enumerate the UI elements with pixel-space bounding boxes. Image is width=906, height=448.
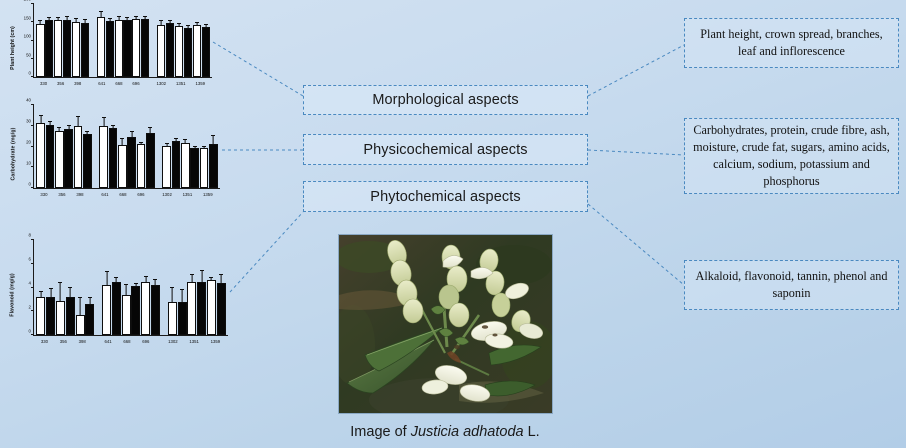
chart1-x-tick-label: 1351 <box>171 79 190 92</box>
chart1-x-group-gap <box>145 79 152 92</box>
chart3-error-bar <box>211 278 212 280</box>
chart1-bar-black <box>63 20 71 77</box>
chart3-bar-black <box>178 302 187 335</box>
chart1-error-cap <box>99 11 103 12</box>
chart2-bar <box>172 105 181 188</box>
chart2-bar <box>74 105 83 188</box>
chart3-bar <box>85 240 94 335</box>
chart3-y-tick-label: 0 <box>29 329 31 334</box>
chart1-error-bar <box>118 17 119 20</box>
chart1-plot-area <box>33 4 212 78</box>
chart2-x-tick-label: 1351 <box>177 190 197 203</box>
chart2-error-cap <box>193 146 197 147</box>
chart2-bar <box>127 105 136 188</box>
chart2-error-bar <box>87 131 88 134</box>
chart3-plot-area <box>33 240 228 336</box>
chart1-x-tick-label: 641 <box>93 79 110 92</box>
chart3-error-cap <box>124 284 128 285</box>
chart1-bar <box>166 4 174 77</box>
chart2-y-tick-mark <box>31 146 34 147</box>
chart1-y-ticks: 050100150200 <box>20 4 33 78</box>
chart2-error-cap <box>130 131 134 132</box>
chart1-bar <box>202 4 210 77</box>
chart1-error-bar <box>127 18 128 21</box>
chart2-y-tick-mark <box>31 187 34 188</box>
chart3-x-group: 130213511359 <box>162 337 226 350</box>
chart3-bar-black <box>112 282 121 335</box>
chart3-bar-black <box>151 285 160 335</box>
chart3-x-tick-label: 641 <box>99 337 118 350</box>
chart2-x-tick-label: 641 <box>96 190 114 203</box>
chart1-bar-white <box>115 20 123 77</box>
chart1-error-bar <box>76 19 77 22</box>
chart3-bar <box>141 240 150 335</box>
chart1-bar <box>45 4 53 77</box>
chart3-bar-white <box>76 315 85 335</box>
chart1-error-cap <box>159 20 163 21</box>
chart3-x-tick-label: 696 <box>136 337 155 350</box>
chart2-error-cap <box>165 143 169 144</box>
chart2-bar <box>200 105 209 188</box>
chart3-error-bar <box>70 288 71 298</box>
chart3-error-bar <box>50 289 51 297</box>
chart2-x-tick-label: 1359 <box>198 190 218 203</box>
chart3-x-tick-label: 398 <box>73 337 92 350</box>
chart1-y-tick-label: 0 <box>29 71 31 76</box>
right-box-physicochemical-details[interactable]: Carbohydrates, protein, crude fibre, ash… <box>684 118 899 194</box>
chart2-y-ticks: 010203040 <box>20 105 33 189</box>
connector-morphological-to-box1 <box>588 45 684 96</box>
chart2-x-group: 641668696 <box>96 190 150 203</box>
connector-physicochemical-to-box2 <box>588 150 684 155</box>
chart2-error-bar <box>141 143 142 145</box>
chart3-x-group: 330356398 <box>35 337 92 350</box>
chart2-bar-white <box>99 126 108 188</box>
chart3-bar <box>168 240 177 335</box>
chart3-bar <box>178 240 187 335</box>
chart2-error-cap <box>120 138 124 139</box>
chart3-error-cap <box>200 270 204 271</box>
chart2-bar-black <box>109 128 118 188</box>
chart2-bar-black <box>46 125 55 188</box>
chart3-error-bar <box>80 298 81 315</box>
chart3-bar <box>131 240 140 335</box>
chart3-error-cap <box>105 271 109 272</box>
chart1-error-cap <box>108 18 112 19</box>
chart1-error-bar <box>40 21 41 24</box>
chart3-error-bar <box>60 283 61 301</box>
chart1-y-tick-label: 50 <box>26 52 31 57</box>
photo-caption-species: Justicia adhatoda <box>411 424 524 440</box>
chart2-bar <box>209 105 218 188</box>
chart1-error-cap <box>143 16 147 17</box>
chart1-x-group-gap <box>86 79 93 92</box>
chart1-bar-black <box>123 20 131 77</box>
chart2-error-cap <box>57 127 61 128</box>
chart1-y-tick-mark <box>31 40 34 41</box>
chart3-bar-group <box>36 240 95 335</box>
chart3-y-tick-mark <box>31 334 34 335</box>
chart1-bar-black <box>141 19 149 77</box>
chart3-bar-white <box>56 301 65 335</box>
chart2-bar <box>46 105 55 188</box>
chart1-x-labels: 330356398641668696130213511359 <box>33 79 212 92</box>
chart1-error-bar <box>205 24 206 27</box>
chart2-error-cap <box>202 146 206 147</box>
chart2-bar-black <box>209 144 218 188</box>
chart1-y-tick-label: 200 <box>24 0 31 2</box>
chart1-bar <box>54 4 62 77</box>
chart2-error-bar <box>59 128 60 132</box>
chart3-y-ticks: 02468 <box>20 240 33 336</box>
chart1-bar-black <box>45 20 53 77</box>
chart3-x-tick-label: 1351 <box>183 337 204 350</box>
chart2-bar-group <box>99 105 155 188</box>
chart1-bar <box>97 4 105 77</box>
chart1-x-group: 641668696 <box>93 79 144 92</box>
chart3-bar <box>217 240 226 335</box>
chart3-error-bar <box>40 292 41 297</box>
chart3-bar-white <box>122 295 131 335</box>
chart2-error-bar <box>185 140 186 143</box>
chart3-error-bar <box>145 277 146 282</box>
chart2-error-bar <box>68 126 69 129</box>
chart2-error-cap <box>111 125 115 126</box>
chart1-bar-black <box>81 23 89 77</box>
chart1-y-tick-mark <box>31 58 34 59</box>
right-box-phytochemical-details[interactable]: Alkaloid, flavonoid, tannin, phenol and … <box>684 260 899 310</box>
chart3-bar-white <box>168 302 177 335</box>
chart2-error-bar <box>40 116 41 123</box>
chart1-error-cap <box>74 18 78 19</box>
chart1-error-bar <box>84 20 85 23</box>
chart1-y-tick-label: 100 <box>24 34 31 39</box>
chart1-x-tick-label: 330 <box>35 79 52 92</box>
chart3-bar <box>207 240 216 335</box>
chart2-x-tick-label: 668 <box>114 190 132 203</box>
chart1-error-cap <box>83 19 87 20</box>
chart1-error-cap <box>65 16 69 17</box>
chart2-y-tick-mark <box>31 125 34 126</box>
chart3-bar <box>112 240 121 335</box>
chart3-bar-white <box>102 285 111 335</box>
chart3-y-tick-mark <box>31 263 34 264</box>
chart3-error-bar <box>116 278 117 282</box>
chart3-y-tick-mark <box>31 239 34 240</box>
chart2-bar <box>190 105 199 188</box>
chart1-x-tick-label: 696 <box>127 79 144 92</box>
right-box-morphological-details[interactable]: Plant height, crown spread, branches, le… <box>684 18 899 68</box>
center-box-morphological-label: Morphological aspects <box>372 92 518 108</box>
photo-caption-prefix: Image of <box>350 424 410 440</box>
chart1-error-cap <box>117 16 121 17</box>
chart1-error-cap <box>125 17 129 18</box>
chart3-error-cap <box>144 276 148 277</box>
chart2-error-cap <box>211 135 215 136</box>
chart3-y-tick-label: 8 <box>29 233 31 238</box>
chart3-bar-black <box>46 297 55 335</box>
chart1-x-tick-label: 1302 <box>152 79 171 92</box>
chart1-bar <box>81 4 89 77</box>
chart1-error-bar <box>196 23 197 25</box>
chart3-error-cap <box>153 279 157 280</box>
chart1-bar <box>193 4 201 77</box>
chart2-error-bar <box>194 147 195 149</box>
chart1-bar-black <box>202 27 210 77</box>
chart3-error-cap <box>78 297 82 298</box>
chart2-y-tick-label: 0 <box>29 182 31 187</box>
chart1-error-bar <box>187 26 188 28</box>
chart-carbohydrate: Carbohydrate (mg/g) 010203040 3303563986… <box>6 105 222 203</box>
chart3-bar-group <box>102 240 161 335</box>
chart1-error-cap <box>38 20 42 21</box>
center-box-morphological[interactable]: Morphological aspects <box>303 85 588 115</box>
chart2-error-bar <box>213 136 214 144</box>
chart3-error-bar <box>191 274 192 281</box>
chart1-bar <box>123 4 131 77</box>
chart1-error-bar <box>67 17 68 20</box>
chart3-error-bar <box>126 285 127 295</box>
chart2-x-labels: 330356398641668696130213511359 <box>33 190 220 203</box>
chart3-x-tick-label: 1302 <box>162 337 183 350</box>
chart2-bar-white <box>200 148 209 188</box>
chart3-bar <box>122 240 131 335</box>
chart1-y-tick-mark <box>31 3 34 4</box>
chart1-error-bar <box>100 12 101 17</box>
chart1-bar-black <box>106 21 114 77</box>
chart1-bar <box>141 4 149 77</box>
chart2-bar-group <box>162 105 218 188</box>
chart2-error-cap <box>183 139 187 140</box>
chart3-bar <box>46 240 55 335</box>
connector-chart1-to-morphological <box>213 42 303 96</box>
chart3-x-tick-label: 1359 <box>205 337 226 350</box>
chart3-bar <box>66 240 75 335</box>
chart2-bar-black <box>64 129 73 188</box>
chart2-y-tick-label: 20 <box>26 140 31 145</box>
chart3-bar-white <box>187 282 196 335</box>
chart2-bar-white <box>118 145 127 188</box>
chart-flavonoid: Flavonoid (mg/g) 02468 33035639864166869… <box>6 240 230 350</box>
chart1-bar <box>36 4 44 77</box>
chart2-x-tick-label: 398 <box>71 190 89 203</box>
chart2-x-tick-label: 330 <box>35 190 53 203</box>
chart3-error-bar <box>201 271 202 282</box>
connector-phytochemical-to-box3 <box>588 204 684 285</box>
chart3-error-bar <box>106 272 107 285</box>
chart1-bar <box>115 4 123 77</box>
chart2-error-bar <box>176 139 177 141</box>
chart2-error-cap <box>76 116 80 117</box>
chart2-bar-black <box>127 137 136 188</box>
chart1-bar-group <box>157 4 210 77</box>
chart1-bar-white <box>54 20 62 77</box>
chart2-x-tick-label: 1302 <box>157 190 177 203</box>
chart2-error-cap <box>148 127 152 128</box>
chart2-bar-black <box>172 141 181 188</box>
chart2-error-bar <box>122 139 123 145</box>
chart3-bar-black <box>217 283 226 335</box>
chart2-bar <box>137 105 146 188</box>
chart1-y-tick-mark <box>31 76 34 77</box>
chart2-bar-group <box>36 105 92 188</box>
chart3-y-tick-label: 2 <box>29 305 31 310</box>
chart3-bar <box>151 240 160 335</box>
chart3-bar <box>102 240 111 335</box>
chart3-x-tick-label: 668 <box>117 337 136 350</box>
chart3-bar <box>187 240 196 335</box>
chart1-error-bar <box>178 24 179 26</box>
chart3-error-cap <box>209 277 213 278</box>
chart3-y-tick-label: 6 <box>29 257 31 262</box>
chart2-error-cap <box>48 121 52 122</box>
chart1-bar <box>106 4 114 77</box>
chart3-bar-black <box>85 304 94 335</box>
chart2-bar-white <box>137 144 146 188</box>
chart3-x-tick-label: 330 <box>35 337 54 350</box>
chart3-error-bar <box>136 284 137 286</box>
chart2-bar <box>162 105 171 188</box>
chart3-error-bar <box>172 288 173 302</box>
chart2-x-group: 130213511359 <box>157 190 218 203</box>
chart2-error-bar <box>150 128 151 132</box>
chart2-error-bar <box>113 126 114 128</box>
center-box-phytochemical[interactable]: Phytochemical aspects <box>303 181 588 212</box>
chart2-error-cap <box>67 125 71 126</box>
chart3-bars <box>34 240 228 335</box>
chart3-y-tick-label: 4 <box>29 281 31 286</box>
chart2-bar-white <box>55 131 64 188</box>
chart2-plot-area <box>33 105 220 189</box>
chart1-x-tick-label: 398 <box>69 79 86 92</box>
chart1-bar <box>175 4 183 77</box>
chart2-error-bar <box>166 143 167 145</box>
right-box-morphological-label: Plant height, crown spread, branches, le… <box>693 26 890 60</box>
chart1-error-bar <box>145 17 146 20</box>
chart2-x-group-gap <box>89 190 96 203</box>
chart3-bar <box>76 240 85 335</box>
chart1-error-cap <box>47 17 51 18</box>
chart2-x-tick-label: 356 <box>53 190 71 203</box>
chart1-bar-black <box>184 28 192 77</box>
chart1-bar-white <box>175 26 183 77</box>
chart3-bar-black <box>66 297 75 335</box>
chart3-bar <box>197 240 206 335</box>
chart3-error-bar <box>221 274 222 282</box>
chart2-bar <box>64 105 73 188</box>
chart2-y-axis-title: Carbohydrate (mg/g) <box>6 105 20 203</box>
chart2-error-cap <box>139 142 143 143</box>
chart2-bar-black <box>190 148 199 188</box>
chart3-error-cap <box>39 291 43 292</box>
chart2-error-bar <box>50 122 51 125</box>
chart2-error-bar <box>103 118 104 127</box>
chart3-error-cap <box>134 283 138 284</box>
right-box-physicochemical-label: Carbohydrates, protein, crude fibre, ash… <box>693 122 890 189</box>
chart3-error-cap <box>219 274 223 275</box>
chart2-bar-black <box>146 133 155 188</box>
chart2-bar <box>146 105 155 188</box>
chart2-bar <box>99 105 108 188</box>
chart1-error-cap <box>168 20 172 21</box>
chart1-x-tick-label: 356 <box>52 79 69 92</box>
chart2-bar-white <box>162 146 171 188</box>
chart1-x-tick-label: 668 <box>110 79 127 92</box>
chart1-y-axis-title: Plant height (cm) <box>6 4 20 92</box>
chart3-error-cap <box>170 287 174 288</box>
chart3-error-cap <box>68 287 72 288</box>
chart1-error-cap <box>204 24 208 25</box>
center-box-phytochemical-label: Phytochemical aspects <box>370 189 520 205</box>
chart3-y-tick-mark <box>31 287 34 288</box>
photo-caption-suffix: L. <box>524 424 540 440</box>
chart1-bar-white <box>157 25 165 77</box>
chart1-error-cap <box>134 16 138 17</box>
chart3-bar <box>36 240 45 335</box>
graphical-abstract: Plant height (cm) 050100150200 330356398… <box>0 0 906 448</box>
chart3-error-bar <box>89 298 90 304</box>
chart2-error-bar <box>204 146 205 147</box>
chart2-y-tick-mark <box>31 104 34 105</box>
chart2-bar <box>109 105 118 188</box>
chart2-bar <box>118 105 127 188</box>
chart3-error-cap <box>190 274 194 275</box>
chart1-bar <box>63 4 71 77</box>
chart1-error-bar <box>109 19 110 21</box>
chart1-x-tick-label: 1359 <box>191 79 210 92</box>
chart1-bar-white <box>193 25 201 77</box>
chart-plant-height: Plant height (cm) 050100150200 330356398… <box>6 4 214 92</box>
chart3-bar-white <box>141 282 150 335</box>
chart2-error-cap <box>39 115 43 116</box>
chart3-bar <box>56 240 65 335</box>
chart1-y-tick-mark <box>31 21 34 22</box>
connector-chart3-to-phytochemical <box>230 212 303 292</box>
chart2-bars <box>34 105 220 188</box>
chart2-y-tick-label: 10 <box>26 161 31 166</box>
chart2-bar <box>36 105 45 188</box>
chart2-error-bar <box>78 117 79 125</box>
chart2-error-cap <box>102 117 106 118</box>
plant-photo <box>338 234 553 414</box>
chart1-y-tick-label: 150 <box>24 15 31 20</box>
chart2-error-bar <box>131 132 132 137</box>
chart1-error-bar <box>58 18 59 21</box>
chart3-bar-black <box>197 282 206 335</box>
chart1-error-bar <box>161 21 162 25</box>
chart1-bar-group <box>36 4 89 77</box>
chart3-bar-black <box>131 286 140 335</box>
chart3-x-group-gap <box>92 337 99 350</box>
center-box-physicochemical[interactable]: Physicochemical aspects <box>303 134 588 165</box>
chart2-y-tick-label: 40 <box>26 98 31 103</box>
chart2-bar <box>181 105 190 188</box>
chart3-error-cap <box>88 297 92 298</box>
chart3-error-cap <box>49 288 53 289</box>
photo-caption: Image of Justicia adhatoda L. <box>300 424 590 440</box>
chart2-bar-black <box>83 134 92 188</box>
chart1-error-bar <box>136 16 137 19</box>
chart1-bar-group <box>96 4 149 77</box>
chart1-bars <box>34 4 212 77</box>
chart1-bar <box>184 4 192 77</box>
right-box-phytochemical-label: Alkaloid, flavonoid, tannin, phenol and … <box>693 268 890 302</box>
chart1-bar-white <box>97 17 105 77</box>
chart3-error-bar <box>155 280 156 285</box>
chart1-bar-white <box>132 19 140 77</box>
chart3-y-axis-title: Flavonoid (mg/g) <box>6 240 20 350</box>
chart1-bar-white <box>36 24 44 77</box>
